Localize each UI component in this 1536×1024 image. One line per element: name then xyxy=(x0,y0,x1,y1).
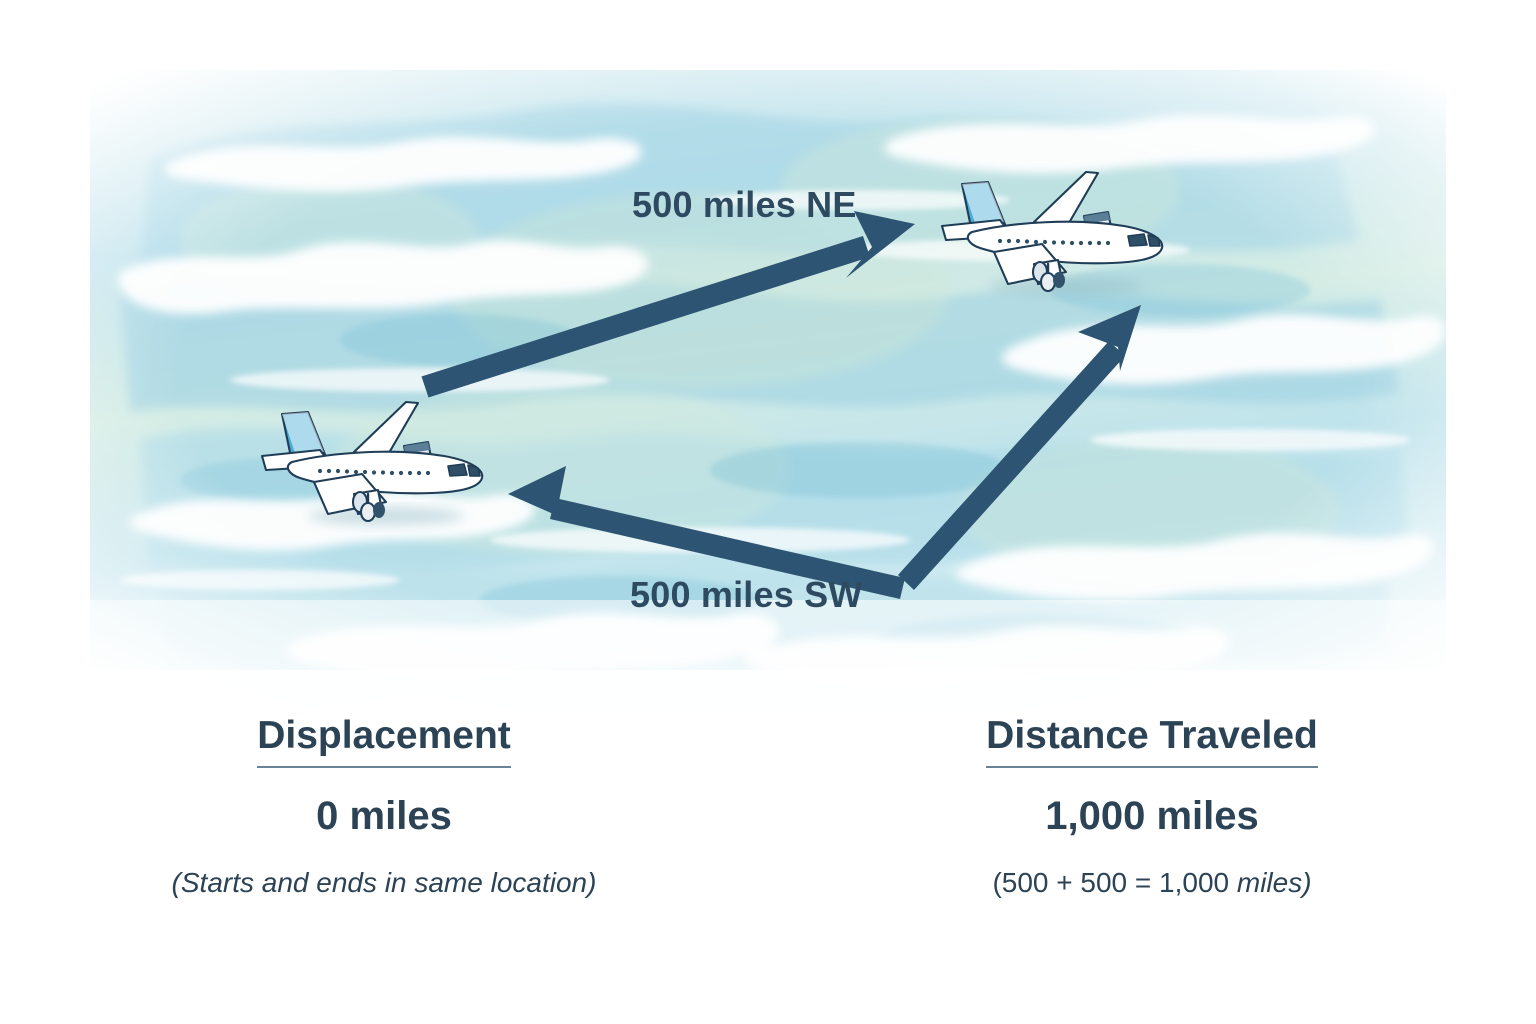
distance-traveled-heading: Distance Traveled xyxy=(986,716,1318,768)
summary-column-distance: Distance Traveled 1,000 miles (500 + 500… xyxy=(768,716,1536,946)
distance-note-equation: 500 + 500 = 1,000 xyxy=(1002,867,1237,898)
cloud-sky-background xyxy=(0,40,1536,720)
displacement-value: 0 miles xyxy=(316,794,452,839)
displacement-note: (Starts and ends in same location) xyxy=(172,867,597,899)
distance-traveled-value: 1,000 miles xyxy=(1045,794,1259,839)
route-label-northeast: 500 miles NE xyxy=(632,184,857,226)
distance-traveled-note: (500 + 500 = 1,000 miles) xyxy=(992,867,1311,899)
distance-note-unit: miles) xyxy=(1237,867,1312,898)
summary-section: Displacement 0 miles (Starts and ends in… xyxy=(0,716,1536,946)
displacement-vs-distance-diagram: 500 miles NE 500 miles SW xyxy=(0,0,1536,1024)
airplane-lower xyxy=(236,390,506,540)
distance-note-open: ( xyxy=(992,867,1001,898)
summary-column-displacement: Displacement 0 miles (Starts and ends in… xyxy=(0,716,768,946)
airplane-upper xyxy=(916,160,1186,310)
displacement-heading: Displacement xyxy=(257,716,511,768)
route-label-southwest: 500 miles SW xyxy=(630,574,863,616)
